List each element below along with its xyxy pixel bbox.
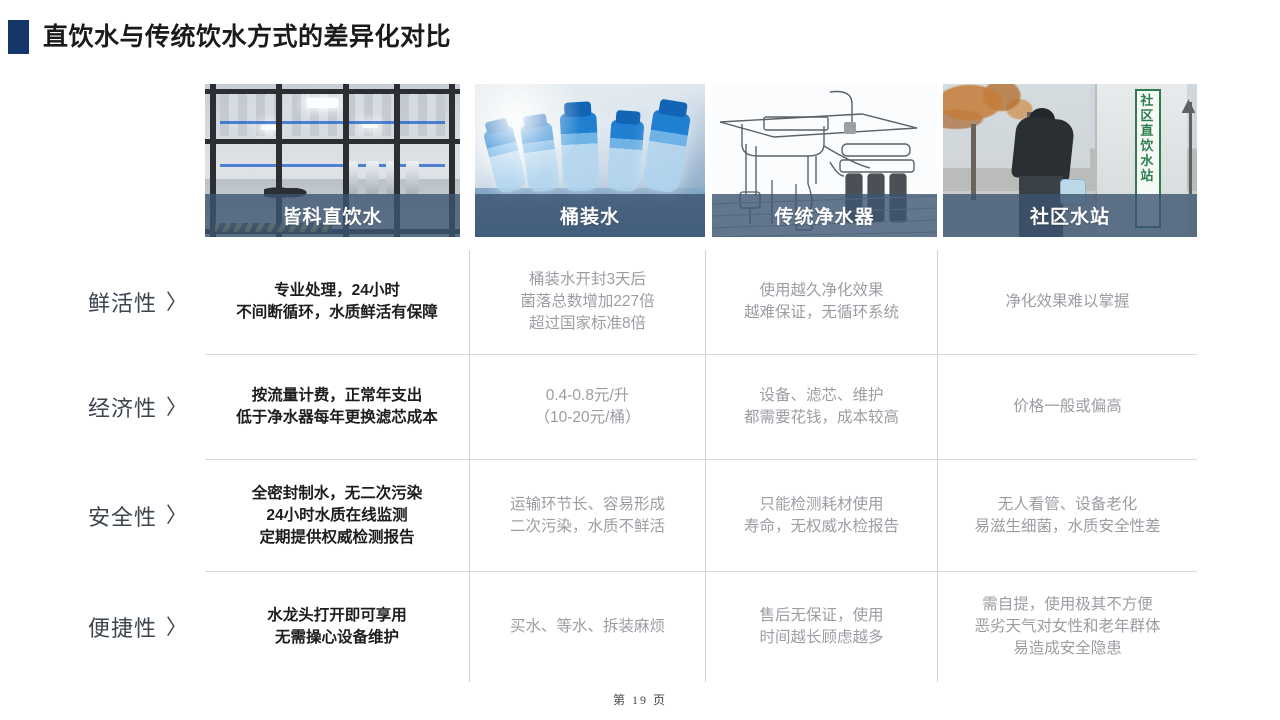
title-accent-bar — [8, 20, 29, 54]
page-number: 第 19 页 — [0, 691, 1280, 708]
table-row: 经济性 〉 按流量计费，正常年支出 低于净水器每年更换滤芯成本 0.4-0.8元… — [0, 354, 1280, 459]
row-label-xianhuoxing[interactable]: 鲜活性 〉 — [0, 250, 205, 354]
cell-line: 菌落总数增加227倍 — [520, 291, 654, 313]
cell-line: 无人看管、设备老化 — [974, 494, 1160, 516]
cell-line: 都需要花钱，成本较高 — [744, 407, 899, 429]
cell-r2-c4: 价格一般或偏高 — [938, 355, 1197, 459]
table-row: 便捷性 〉 水龙头打开即可享用 无需操心设备维护 买水、等水、拆装麻烦 售后无保… — [0, 571, 1280, 682]
row-label-text: 安全性 — [88, 500, 157, 532]
column-card-station[interactable]: 社区直饮水站 社区水站 — [943, 84, 1197, 237]
cell-r4-c1: 水龙头打开即可享用 无需操心设备维护 — [205, 572, 470, 682]
chevron-right-icon: 〉 — [166, 505, 187, 526]
cell-r4-c2: 买水、等水、拆装麻烦 — [470, 572, 706, 682]
cell-line: 需自提，使用极其不方便 — [974, 594, 1160, 616]
slide-root: 直饮水与传统饮水方式的差异化对比 — [0, 0, 1280, 720]
cell-line: 全密封制水，无二次污染 — [252, 483, 423, 505]
cell-line: 专业处理，24小时 — [236, 280, 438, 302]
cell-line: 桶装水开封3天后 — [520, 269, 654, 291]
cell-r1-c1: 专业处理，24小时 不间断循环，水质鲜活有保障 — [205, 250, 470, 354]
chevron-right-icon: 〉 — [166, 617, 187, 638]
cell-line: 24小时水质在线监测 — [252, 505, 423, 527]
column-label-station: 社区水站 — [943, 194, 1197, 237]
title-text: 直饮水与传统饮水方式的差异化对比 — [43, 20, 451, 54]
row-label-bianjiexing[interactable]: 便捷性 〉 — [0, 572, 205, 682]
station-sign-text: 社区直饮水站 — [1135, 93, 1159, 183]
cell-r2-c1: 按流量计费，正常年支出 低于净水器每年更换滤芯成本 — [205, 355, 470, 459]
column-label-text: 桶装水 — [560, 202, 620, 229]
column-label-text: 皆科直饮水 — [282, 202, 382, 229]
column-card-jieke[interactable]: 皆科直饮水 — [205, 84, 460, 237]
table-row: 鲜活性 〉 专业处理，24小时 不间断循环，水质鲜活有保障 桶装水开封3天后 菌… — [0, 250, 1280, 354]
table-row: 安全性 〉 全密封制水，无二次污染 24小时水质在线监测 定期提供权威检测报告 … — [0, 459, 1280, 571]
cell-r2-c3: 设备、滤芯、维护 都需要花钱，成本较高 — [706, 355, 938, 459]
cell-line: 运输环节长、容易形成 — [510, 494, 665, 516]
cell-line: 定期提供权威检测报告 — [252, 527, 423, 549]
cell-line: 使用越久净化效果 — [744, 280, 899, 302]
cell-line: 易滋生细菌，水质安全性差 — [974, 516, 1160, 538]
page-title: 直饮水与传统饮水方式的差异化对比 — [8, 20, 451, 54]
cell-r4-c3: 售后无保证，使用 时间越长顾虑越多 — [706, 572, 938, 682]
cell-r1-c4: 净化效果难以掌握 — [938, 250, 1197, 354]
column-card-purifier[interactable]: 传统净水器 — [712, 84, 937, 237]
column-label-text: 社区水站 — [1030, 202, 1110, 229]
column-header-cards: 皆科直饮水 桶装水 — [205, 84, 1197, 237]
cell-line: 设备、滤芯、维护 — [744, 385, 899, 407]
cell-line: （10-20元/桶） — [535, 407, 641, 429]
cell-r3-c2: 运输环节长、容易形成 二次污染，水质不鲜活 — [470, 460, 706, 571]
column-label-purifier: 传统净水器 — [712, 194, 937, 237]
cell-r4-c4: 需自提，使用极其不方便 恶劣天气对女性和老年群体 易造成安全隐患 — [938, 572, 1197, 682]
cell-line: 越难保证，无循环系统 — [744, 302, 899, 324]
cell-line: 寿命，无权威水检报告 — [744, 516, 899, 538]
cell-r1-c2: 桶装水开封3天后 菌落总数增加227倍 超过国家标准8倍 — [470, 250, 706, 354]
cell-line: 0.4-0.8元/升 — [535, 385, 641, 407]
cell-line: 净化效果难以掌握 — [1005, 291, 1129, 313]
row-label-text: 便捷性 — [88, 611, 157, 643]
cell-r3-c4: 无人看管、设备老化 易滋生细菌，水质安全性差 — [938, 460, 1197, 571]
cell-line: 低于净水器每年更换滤芯成本 — [236, 407, 438, 429]
cell-line: 时间越长顾虑越多 — [759, 627, 883, 649]
cell-line: 售后无保证，使用 — [759, 605, 883, 627]
row-label-anquanxing[interactable]: 安全性 〉 — [0, 460, 205, 571]
cell-line: 无需操心设备维护 — [267, 627, 407, 649]
cell-r3-c3: 只能检测耗材使用 寿命，无权威水检报告 — [706, 460, 938, 571]
cell-line: 买水、等水、拆装麻烦 — [510, 616, 665, 638]
cell-line: 水龙头打开即可享用 — [267, 605, 407, 627]
cell-r1-c3: 使用越久净化效果 越难保证，无循环系统 — [706, 250, 938, 354]
column-label-jieke: 皆科直饮水 — [205, 194, 460, 237]
cell-line: 恶劣天气对女性和老年群体 — [974, 616, 1160, 638]
cell-line: 二次污染，水质不鲜活 — [510, 516, 665, 538]
comparison-table: 鲜活性 〉 专业处理，24小时 不间断循环，水质鲜活有保障 桶装水开封3天后 菌… — [0, 250, 1280, 682]
cell-r3-c1: 全密封制水，无二次污染 24小时水质在线监测 定期提供权威检测报告 — [205, 460, 470, 571]
column-label-barreled: 桶装水 — [475, 194, 705, 237]
cell-r2-c2: 0.4-0.8元/升 （10-20元/桶） — [470, 355, 706, 459]
cell-line: 不间断循环，水质鲜活有保障 — [236, 302, 438, 324]
chevron-right-icon: 〉 — [166, 292, 187, 313]
cell-line: 价格一般或偏高 — [1013, 396, 1122, 418]
column-card-barreled[interactable]: 桶装水 — [475, 84, 705, 237]
cell-line: 易造成安全隐患 — [974, 638, 1160, 660]
row-label-text: 经济性 — [88, 391, 157, 423]
column-label-text: 传统净水器 — [774, 202, 874, 229]
cell-line: 超过国家标准8倍 — [520, 313, 654, 335]
row-label-jingjixing[interactable]: 经济性 〉 — [0, 355, 205, 459]
row-label-text: 鲜活性 — [88, 286, 157, 318]
chevron-right-icon: 〉 — [166, 397, 187, 418]
cell-line: 只能检测耗材使用 — [744, 494, 899, 516]
cell-line: 按流量计费，正常年支出 — [236, 385, 438, 407]
